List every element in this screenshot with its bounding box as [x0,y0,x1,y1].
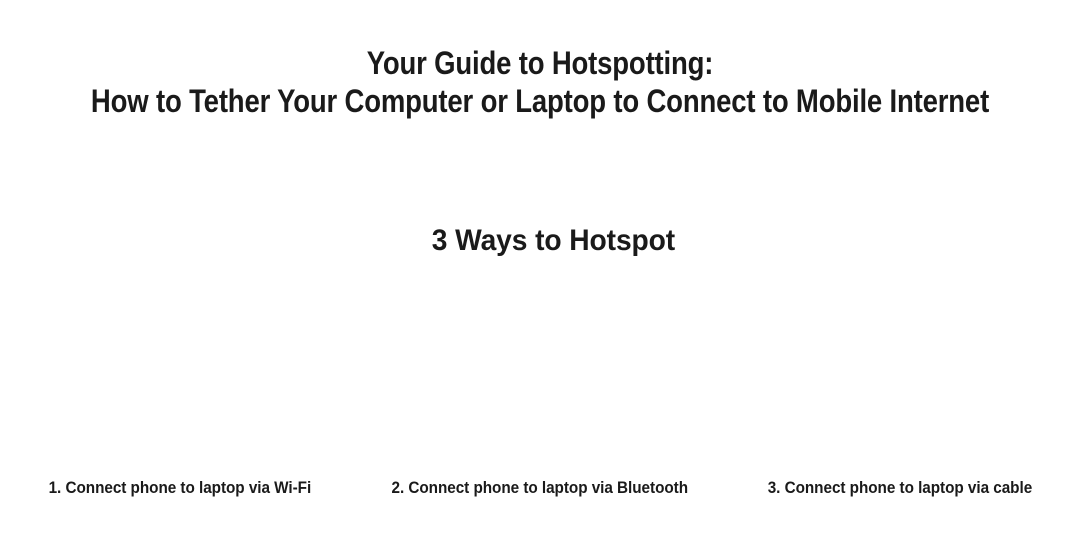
method-caption-cable: 3. Connect phone to laptop via cable [720,477,1080,530]
method-column-bluetooth: 2. Connect phone to laptop via Bluetooth [360,290,720,530]
method-caption-wifi-label: 1. Connect phone to laptop via Wi-Fi [49,477,312,498]
method-caption-wifi: 1. Connect phone to laptop via Wi-Fi [0,477,360,530]
bluetooth-tether-illustration [360,290,720,477]
section-heading-label: 3 Ways to Hotspot [431,222,674,260]
methods-row: 1. Connect phone to laptop via Wi-Fi 2. … [0,290,1080,530]
method-caption-bluetooth: 2. Connect phone to laptop via Bluetooth [360,477,720,530]
method-caption-cable-label: 3. Connect phone to laptop via cable [768,477,1032,498]
section-heading: 3 Ways to Hotspot [0,222,1080,260]
article-page: Your Guide to Hotspotting: How to Tether… [0,0,1080,552]
wifi-tether-illustration [0,290,360,477]
page-title: Your Guide to Hotspotting: How to Tether… [0,44,1080,120]
method-caption-bluetooth-label: 2. Connect phone to laptop via Bluetooth [392,477,689,498]
page-title-line-1: Your Guide to Hotspotting: [76,44,1005,82]
cable-tether-illustration [720,290,1080,477]
page-title-line-2: How to Tether Your Computer or Laptop to… [76,82,1005,120]
method-column-wifi: 1. Connect phone to laptop via Wi-Fi [0,290,360,530]
method-column-cable: 3. Connect phone to laptop via cable [720,290,1080,530]
